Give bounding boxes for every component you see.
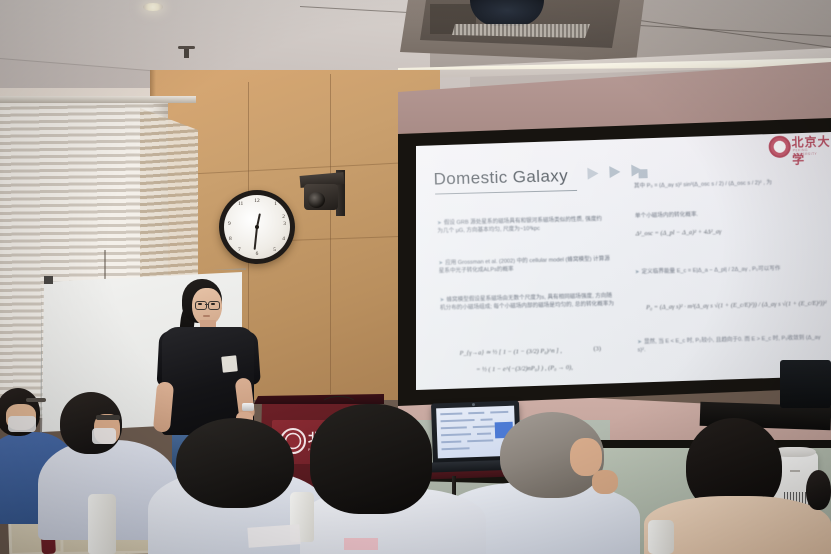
clock-number-1: 1 bbox=[274, 201, 277, 207]
paper-sheet bbox=[344, 538, 378, 550]
monitor bbox=[780, 360, 831, 408]
downlight-icon bbox=[143, 3, 163, 11]
glasses-icon bbox=[96, 415, 120, 420]
water-glass bbox=[648, 520, 674, 554]
presentation-slide: Domestic Galaxy 北京大学 PEKING UNIVERSITY ➤… bbox=[416, 132, 831, 390]
camera-lens-icon bbox=[308, 192, 325, 208]
clock-number-3: 3 bbox=[283, 221, 286, 227]
slide-title-underline bbox=[435, 190, 577, 195]
audience-head bbox=[310, 404, 432, 514]
clock-minute-hand bbox=[254, 228, 258, 250]
bullet-text: 蜂窝模型假设星系磁场由无数个尺度为s, 具有相同磁场强度, 方向随机分布的小磁场… bbox=[440, 293, 614, 312]
face-mask bbox=[92, 428, 116, 444]
right-text: 显然, 当 E < E_c 时, P₀较小, 且趋向于0. 而 E > E_c … bbox=[637, 335, 820, 354]
right-text: 定义临界能量 E_c = E|Δ_a − Δ_pl| / 2Δ_aγ , P₀可… bbox=[641, 266, 780, 276]
bullet-text: 应用 Grossman et al. (2002) 中的 cellular mo… bbox=[439, 256, 610, 275]
slide-right-line-1: 其中 P₀ = (Δ_aγ s)² sin²(Δ_osc s / 2) / (Δ… bbox=[634, 178, 820, 191]
presenter-mouth bbox=[203, 315, 210, 317]
clock-number-8: 8 bbox=[229, 236, 232, 242]
play-triangle-icon bbox=[609, 166, 620, 178]
clock-number-9: 9 bbox=[228, 221, 231, 227]
audience-head bbox=[806, 470, 831, 510]
clock-number-2: 2 bbox=[282, 214, 285, 220]
slide-equation-left-1: P_{γ→a} ≃ ½ [ 1 − (1 − (3/2) P₀)^n ] , bbox=[459, 346, 562, 357]
audience-head bbox=[176, 418, 294, 508]
presenter-eye-right bbox=[211, 303, 215, 305]
slide-bullet-2: ➤应用 Grossman et al. (2002) 中的 cellular m… bbox=[438, 255, 613, 276]
face-mask bbox=[8, 416, 36, 432]
slide-bullet-1: ➤假设 GRB 源处星系的磁场具有和银河系磁场类似的性质, 强度约为几个 μG,… bbox=[437, 215, 608, 236]
bullet-marker-icon: ➤ bbox=[635, 269, 640, 275]
bullet-marker-icon: ➤ bbox=[637, 339, 642, 345]
projection-screen: Domestic Galaxy 北京大学 PEKING UNIVERSITY ➤… bbox=[416, 132, 831, 390]
sprinkler-icon bbox=[184, 48, 189, 58]
slide-equation-number: (3) bbox=[593, 345, 601, 352]
sprinkler-plate bbox=[178, 46, 195, 49]
clock-number-12: 12 bbox=[254, 198, 259, 204]
seminar-photograph: 12 3 6 9 11 1 2 4 5 7 8 Domestic Galaxy bbox=[0, 0, 831, 554]
glasses-icon bbox=[26, 398, 46, 402]
peking-university-seal-icon bbox=[768, 136, 791, 159]
paper-sheet bbox=[247, 524, 300, 548]
right-text: 其中 P₀ = (Δ_aγ s)² sin²(Δ_osc s / 2) / (Δ… bbox=[634, 180, 772, 189]
air-purifier-label bbox=[790, 470, 800, 472]
bullet-marker-icon: ➤ bbox=[440, 297, 445, 303]
wood-seam bbox=[330, 74, 331, 394]
bullet-text: 假设 GRB 源处星系的磁场具有和银河系磁场类似的性质, 强度约为几个 μG, … bbox=[437, 216, 602, 234]
slide-right-line-2: 单个小磁场内的转化概率. bbox=[635, 208, 821, 221]
slide-right-bullet-2: ➤显然, 当 E < E_c 时, P₀较小, 且趋向于0. 而 E > E_c… bbox=[637, 334, 830, 355]
slide-equation-right-osc: Δ²_osc = (Δ_pl − Δ_a)² + 4Δ²_aγ bbox=[635, 228, 721, 237]
slide-title: Domestic Galaxy bbox=[433, 166, 568, 189]
glasses-bridge-icon bbox=[205, 304, 208, 305]
presenter-name-badge bbox=[221, 355, 238, 372]
wall-clock: 12 3 6 9 11 1 2 4 5 7 8 bbox=[219, 190, 295, 264]
slide-bullet-3: ➤蜂窝模型假设星系磁场由无数个尺度为s, 具有相同磁场强度, 方向随机分布的小磁… bbox=[440, 292, 617, 313]
clock-number-11: 11 bbox=[238, 201, 243, 207]
clock-number-7: 7 bbox=[238, 247, 241, 253]
slide-right-bullet-1: ➤定义临界能量 E_c = E|Δ_a − Δ_pl| / 2Δ_aγ , P₀… bbox=[635, 264, 825, 277]
slide-equation-left-2: = ½ ( 1 − e^{−(3/2)nP₀} ) , (P₀ → 0), bbox=[476, 364, 573, 373]
clock-number-6: 6 bbox=[256, 251, 259, 257]
clock-number-4: 4 bbox=[282, 236, 285, 242]
slide-equation-right-p0: P₀ = (Δ_aγ s)² · m²(Δ_aγ s √(1 + (E_c/E)… bbox=[646, 300, 827, 312]
institution-name-en: PEKING UNIVERSITY bbox=[793, 147, 831, 156]
flag-square-icon bbox=[638, 169, 647, 178]
bullet-marker-icon: ➤ bbox=[437, 220, 442, 226]
laptop-webcam-icon bbox=[472, 403, 475, 406]
presentation-clicker[interactable] bbox=[242, 403, 254, 411]
right-text: 单个小磁场内的转化概率. bbox=[635, 212, 698, 220]
blind-headrail bbox=[0, 96, 196, 103]
clock-number-5: 5 bbox=[273, 247, 276, 253]
water-bottle bbox=[88, 494, 116, 554]
bullet-marker-icon: ➤ bbox=[438, 260, 443, 266]
play-triangle-icon bbox=[587, 167, 598, 179]
audience-hand bbox=[592, 470, 618, 494]
whiteboard-clip bbox=[44, 276, 53, 284]
clock-center-pin bbox=[255, 225, 259, 229]
presenter-eye-left bbox=[198, 303, 202, 305]
